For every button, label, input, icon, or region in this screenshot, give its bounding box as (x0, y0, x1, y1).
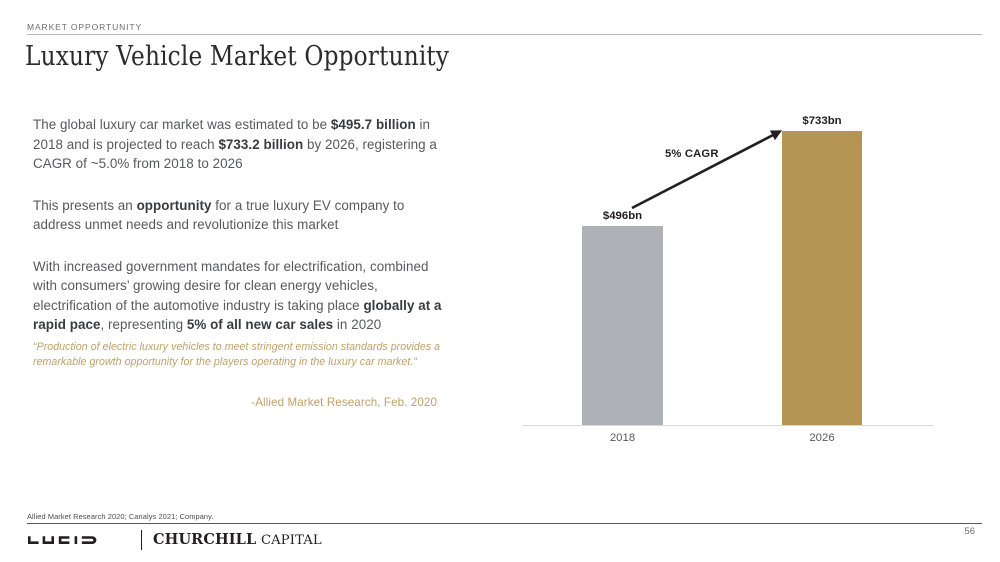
paragraph-opportunity: This presents an opportunity for a true … (33, 196, 453, 235)
bar-2026 (782, 131, 862, 425)
source-note: Allied Market Research 2020; Canalys 202… (27, 512, 214, 521)
paragraph-electrification: With increased government mandates for e… (33, 257, 453, 335)
cagr-growth-arrow-icon (515, 105, 935, 425)
header-divider (27, 34, 982, 35)
bar-value-2018: $496bn (582, 210, 663, 222)
logo-divider (141, 530, 142, 550)
brand-logo-row: CHURCHILL CAPITAL (28, 529, 322, 551)
bar-2018 (582, 226, 663, 425)
footer-divider (27, 523, 982, 524)
quote-attribution: -Allied Market Research, Feb. 2020 (33, 396, 437, 409)
page-title: Luxury Vehicle Market Opportunity (25, 41, 449, 72)
churchill-capital-logo: CHURCHILL CAPITAL (153, 533, 322, 548)
churchill-word: CHURCHILL (153, 531, 256, 548)
chart-baseline-axis (523, 425, 933, 426)
slide-eyebrow: MARKET OPPORTUNITY (27, 22, 142, 32)
slide-root: MARKET OPPORTUNITY Luxury Vehicle Market… (0, 0, 1000, 562)
lucid-logo (28, 532, 132, 548)
bar-value-2026: $733bn (777, 115, 867, 127)
category-label-2018: 2018 (582, 432, 663, 444)
body-copy: The global luxury car market was estimat… (33, 115, 453, 335)
capital-word: CAPITAL (261, 533, 322, 548)
cagr-annotation-label: 5% CAGR (665, 148, 719, 160)
pull-quote: “Production of electric luxury vehicles … (33, 340, 453, 369)
category-label-2026: 2026 (782, 432, 862, 444)
paragraph-market-size: The global luxury car market was estimat… (33, 115, 453, 174)
chart-plot-area: $496bn $733bn 5% CAGR 2018 2026 (515, 105, 935, 425)
market-size-bar-chart: $496bn $733bn 5% CAGR 2018 2026 (515, 105, 935, 445)
page-number: 56 (964, 526, 975, 537)
